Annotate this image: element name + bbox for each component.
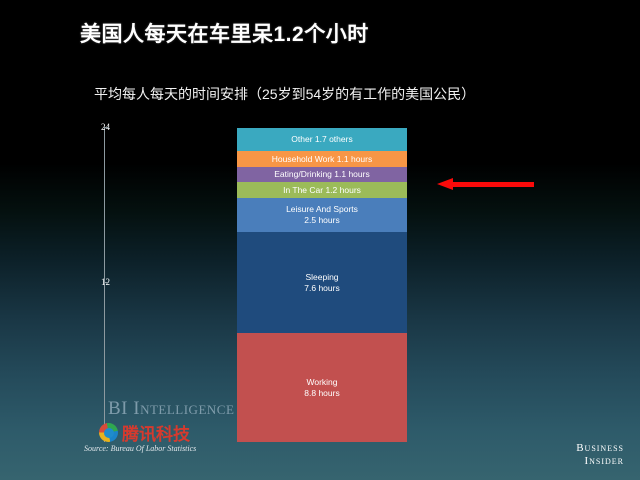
stacked-bar-chart: 24 12 0 Other 1.7 others Household Work … bbox=[0, 0, 640, 480]
business-insider-logo: Business Insider bbox=[576, 442, 624, 468]
slide-canvas: 美国人每天在车里呆1.2个小时 平均每人每天的时间安排（25岁到54岁的有工作的… bbox=[0, 0, 640, 480]
bar-segment-other[interactable]: Other 1.7 others bbox=[237, 128, 407, 151]
bar-segment-eating-drinking[interactable]: Eating/Drinking 1.1 hours bbox=[237, 167, 407, 182]
bar-segment-leisure-and-sports-value: 2.5 hours bbox=[304, 215, 339, 226]
y-tick-mark-24 bbox=[104, 127, 109, 128]
bar-segment-leisure-and-sports-label: Leisure And Sports bbox=[286, 204, 358, 215]
tencent-penguin-icon bbox=[99, 423, 118, 442]
bar-segment-working[interactable]: Working 8.8 hours bbox=[237, 333, 407, 442]
tencent-watermark: 腾讯科技 bbox=[99, 420, 190, 445]
bar-segment-leisure-and-sports[interactable]: Leisure And Sports 2.5 hours bbox=[237, 198, 407, 232]
bar-segment-sleeping-value: 7.6 hours bbox=[304, 283, 339, 294]
red-arrow-annotation-icon bbox=[437, 180, 534, 188]
business-insider-logo-line1: Business bbox=[576, 442, 624, 455]
arrow-shaft bbox=[451, 182, 534, 187]
bi-intelligence-watermark: BI Intelligence bbox=[108, 398, 234, 420]
bar-segment-household-work-label: Household Work 1.1 hours bbox=[272, 154, 372, 165]
bar-segment-sleeping-label: Sleeping bbox=[305, 272, 338, 283]
bar-segment-in-the-car[interactable]: In The Car 1.2 hours bbox=[237, 182, 407, 198]
y-tick-mark-12 bbox=[104, 282, 109, 283]
source-caption: Source: Bureau Of Labor Statistics bbox=[84, 444, 196, 453]
bar-segment-sleeping[interactable]: Sleeping 7.6 hours bbox=[237, 232, 407, 333]
business-insider-logo-line2: Insider bbox=[576, 455, 624, 468]
bar-segment-in-the-car-label: In The Car 1.2 hours bbox=[283, 185, 361, 196]
bar-segment-working-label: Working bbox=[306, 377, 337, 388]
tencent-watermark-label: 腾讯科技 bbox=[122, 420, 190, 445]
bar-segment-working-value: 8.8 hours bbox=[304, 388, 339, 399]
bar-segment-eating-drinking-label: Eating/Drinking 1.1 hours bbox=[274, 169, 369, 180]
bar-segment-other-label: Other 1.7 others bbox=[291, 134, 352, 145]
bar-segment-household-work[interactable]: Household Work 1.1 hours bbox=[237, 151, 407, 167]
stacked-bar: Other 1.7 others Household Work 1.1 hour… bbox=[237, 128, 407, 442]
